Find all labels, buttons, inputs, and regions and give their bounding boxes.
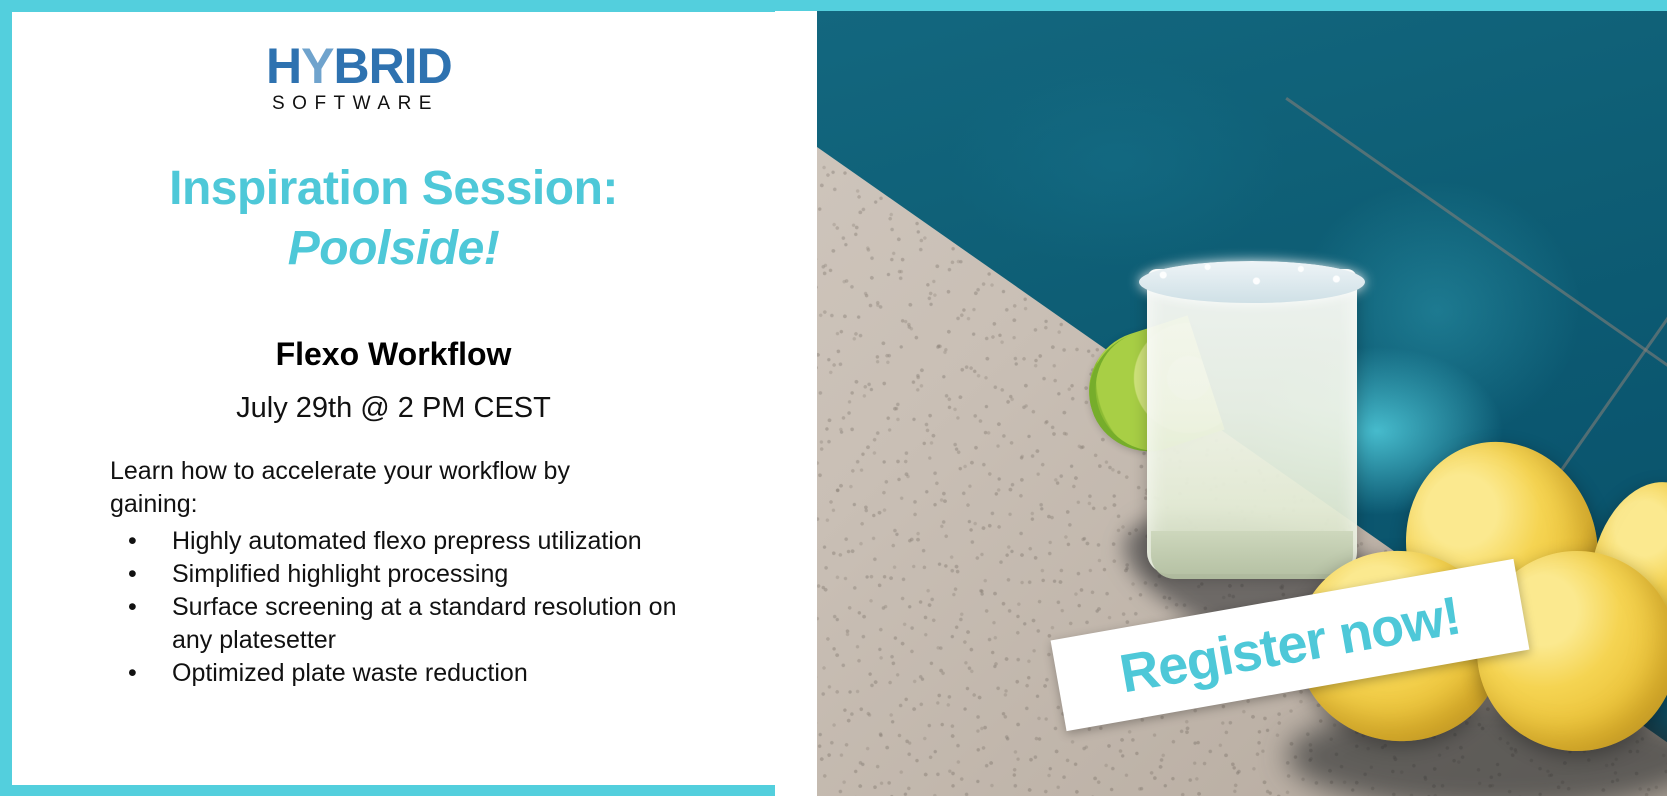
salted-rim [1141,259,1363,299]
frame-border-left [0,0,12,796]
list-item: •Optimized plate waste reduction [110,657,710,690]
body-copy: Learn how to accelerate your workflow by… [110,455,710,690]
logo-wordmark: HYBRID [266,40,496,92]
list-item-label: Simplified highlight processing [172,560,508,588]
logo-letter-h: H [266,38,301,94]
headline: Inspiration Session: Poolside! [12,160,775,280]
bullet-icon: • [128,525,137,558]
list-item: •Surface screening at a standard resolut… [110,591,710,657]
list-item: •Simplified highlight processing [110,558,710,591]
list-item-label: Highly automated flexo prepress utilizat… [172,527,642,555]
content-panel: HYBRID SOFTWARE Inspiration Session: Poo… [12,12,775,785]
logo-letters-brid: BRID [333,38,451,94]
frame-border-top [0,0,775,12]
benefits-list: •Highly automated flexo prepress utiliza… [110,525,710,690]
bullet-icon: • [128,591,137,624]
glass-base [1151,531,1353,579]
bullet-icon: • [128,558,137,591]
headline-line-2: Poolside! [12,218,775,280]
promo-banner: Register now! HYBRID SOFTWARE Inspiratio… [0,0,1667,796]
photo-left-margin [775,11,817,796]
logo-letter-y: Y [301,38,333,94]
list-item: •Highly automated flexo prepress utiliza… [110,525,710,558]
frame-border-bottom [0,785,775,796]
headline-line-1: Inspiration Session: [12,160,775,218]
body-lead-text: Learn how to accelerate your workflow by… [110,455,610,521]
hybrid-software-logo: HYBRID SOFTWARE [266,40,496,120]
list-item-label: Optimized plate waste reduction [172,659,528,687]
poolside-photo: Register now! [817,11,1667,796]
cocktail-glass [1147,269,1357,574]
frame-border-top-right [775,0,1667,11]
bullet-icon: • [128,657,137,690]
logo-subtitle: SOFTWARE [272,93,496,115]
session-topic: Flexo Workflow [12,334,775,374]
list-item-label: Surface screening at a standard resoluti… [172,593,676,654]
session-datetime: July 29th @ 2 PM CEST [12,389,775,427]
